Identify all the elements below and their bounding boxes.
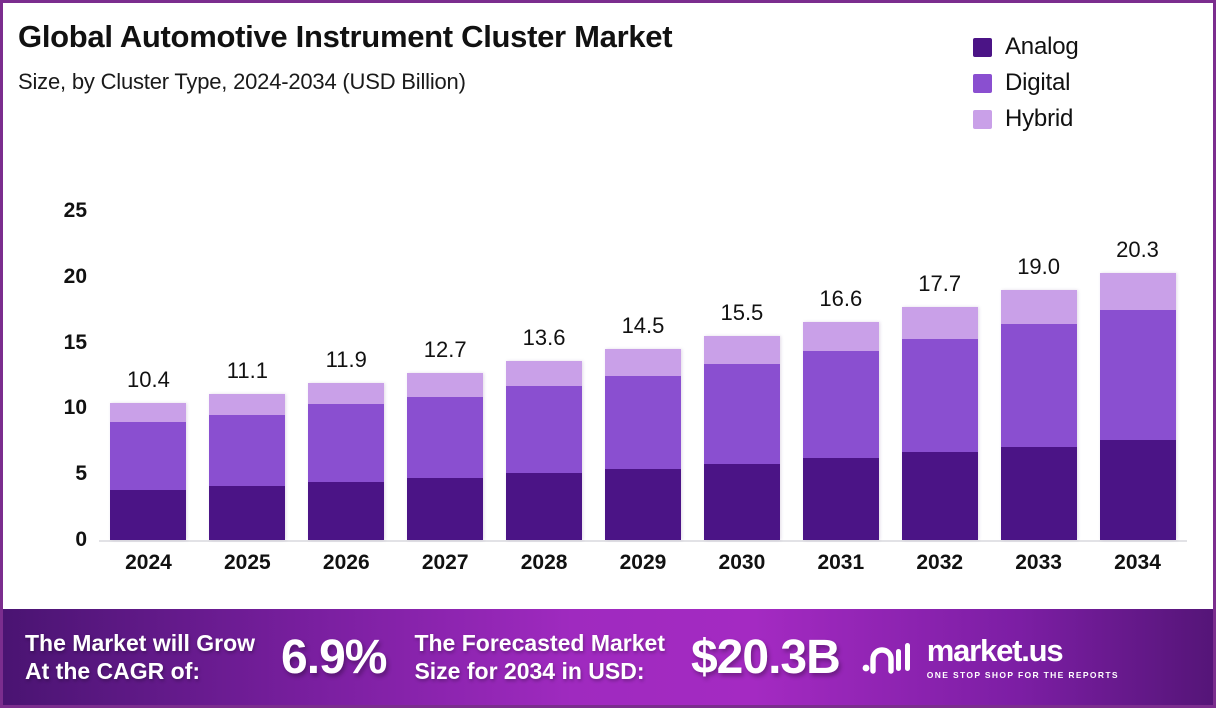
market-us-logo-text: market.us ONE STOP SHOP FOR THE REPORTS <box>927 635 1119 680</box>
bar-segment-hybrid[interactable] <box>1001 290 1077 324</box>
bar-segment-digital[interactable] <box>1100 310 1176 440</box>
forecast-label-line1: The Forecasted Market <box>414 629 665 657</box>
bar-segment-analog[interactable] <box>110 490 186 540</box>
forecast-value: $20.3B <box>691 630 840 685</box>
legend-swatch-icon <box>973 38 992 57</box>
y-tick-label: 25 <box>41 199 87 223</box>
y-tick-label: 5 <box>41 462 87 486</box>
bar-segment-analog[interactable] <box>209 486 285 540</box>
bar-segment-analog[interactable] <box>506 473 582 540</box>
bar-column-2032[interactable]: 17.7 <box>890 143 989 540</box>
forecast-label: The Forecasted Market Size for 2034 in U… <box>414 629 665 685</box>
bar-total-label: 10.4 <box>127 367 170 393</box>
x-axis-label-2027: 2027 <box>396 551 495 591</box>
bar-total-label: 16.6 <box>819 286 862 312</box>
bar-segment-digital[interactable] <box>902 339 978 452</box>
bar-total-label: 11.9 <box>326 347 367 373</box>
bar-segment-hybrid[interactable] <box>506 361 582 386</box>
x-axis-label-2024: 2024 <box>99 551 198 591</box>
bar-total-label: 17.7 <box>918 271 961 297</box>
legend-item-label: Digital <box>1005 69 1070 97</box>
x-axis-label-2026: 2026 <box>297 551 396 591</box>
legend-item-label: Hybrid <box>1005 105 1073 133</box>
bar-column-2031[interactable]: 16.6 <box>791 143 890 540</box>
bar-segment-hybrid[interactable] <box>407 373 483 397</box>
bar-segment-analog[interactable] <box>407 478 483 540</box>
bar-segment-analog[interactable] <box>1001 447 1077 540</box>
legend-swatch-icon <box>973 110 992 129</box>
y-tick-label: 20 <box>41 265 87 289</box>
bar-stack[interactable] <box>209 394 285 540</box>
x-axis-label-2033: 2033 <box>989 551 1088 591</box>
bar-stack[interactable] <box>1100 273 1176 540</box>
cagr-value: 6.9% <box>281 630 386 685</box>
x-axis-label-2029: 2029 <box>594 551 693 591</box>
bar-segment-analog[interactable] <box>605 469 681 540</box>
bar-total-label: 15.5 <box>720 300 763 326</box>
bar-segment-hybrid[interactable] <box>209 394 285 415</box>
bar-segment-analog[interactable] <box>308 482 384 540</box>
bar-series-container: 10.411.111.912.713.614.515.516.617.719.0… <box>99 143 1187 540</box>
bar-segment-digital[interactable] <box>308 404 384 482</box>
x-axis-label-2034: 2034 <box>1088 551 1187 591</box>
bar-segment-digital[interactable] <box>110 422 186 490</box>
bar-stack[interactable] <box>605 349 681 540</box>
bar-segment-hybrid[interactable] <box>110 403 186 421</box>
chart-legend: AnalogDigitalHybrid <box>973 29 1193 137</box>
cagr-label-line1: The Market will Grow <box>25 629 255 657</box>
bar-stack[interactable] <box>1001 290 1077 540</box>
bar-column-2027[interactable]: 12.7 <box>396 143 495 540</box>
bar-segment-hybrid[interactable] <box>803 322 879 351</box>
bar-column-2028[interactable]: 13.6 <box>495 143 594 540</box>
bar-segment-digital[interactable] <box>605 376 681 469</box>
x-axis-label-2025: 2025 <box>198 551 297 591</box>
x-axis-label-2028: 2028 <box>495 551 594 591</box>
bar-segment-hybrid[interactable] <box>308 383 384 404</box>
bar-segment-analog[interactable] <box>803 458 879 540</box>
bar-column-2025[interactable]: 11.1 <box>198 143 297 540</box>
bar-total-label: 19.0 <box>1017 254 1060 280</box>
bar-column-2033[interactable]: 19.0 <box>989 143 1088 540</box>
bar-segment-hybrid[interactable] <box>902 307 978 339</box>
bar-stack[interactable] <box>308 383 384 540</box>
y-tick-label: 15 <box>41 331 87 355</box>
market-us-logo[interactable]: market.us ONE STOP SHOP FOR THE REPORTS <box>862 635 1119 680</box>
y-tick-label: 0 <box>41 528 87 552</box>
bar-stack[interactable] <box>704 336 780 540</box>
logo-wordmark: market.us <box>927 635 1119 666</box>
legend-item-label: Analog <box>1005 33 1079 61</box>
legend-item-hybrid[interactable]: Hybrid <box>973 101 1193 137</box>
bar-total-label: 11.1 <box>227 358 268 384</box>
bar-total-label: 12.7 <box>424 337 467 363</box>
bar-segment-digital[interactable] <box>506 386 582 473</box>
bar-segment-digital[interactable] <box>704 364 780 464</box>
infographic-frame: Global Automotive Instrument Cluster Mar… <box>0 0 1216 708</box>
y-tick-label: 10 <box>41 396 87 420</box>
x-axis-label-2032: 2032 <box>890 551 989 591</box>
bar-total-label: 20.3 <box>1116 237 1159 263</box>
x-axis-label-2031: 2031 <box>791 551 890 591</box>
bar-column-2029[interactable]: 14.5 <box>594 143 693 540</box>
page-title: Global Automotive Instrument Cluster Mar… <box>18 19 672 55</box>
bar-segment-hybrid[interactable] <box>1100 273 1176 310</box>
bar-stack[interactable] <box>803 322 879 540</box>
legend-item-analog[interactable]: Analog <box>973 29 1193 65</box>
summary-banner: The Market will Grow At the CAGR of: 6.9… <box>3 609 1213 705</box>
bar-total-label: 13.6 <box>523 325 566 351</box>
bar-segment-analog[interactable] <box>902 452 978 540</box>
plot-area: 0510152025 10.411.111.912.713.614.515.51… <box>3 143 1216 615</box>
bar-segment-analog[interactable] <box>1100 440 1176 540</box>
cagr-label-line2: At the CAGR of: <box>25 657 255 685</box>
bar-segment-digital[interactable] <box>1001 324 1077 446</box>
bar-total-label: 14.5 <box>622 313 665 339</box>
x-axis-baseline <box>99 540 1187 542</box>
bar-column-2026[interactable]: 11.9 <box>297 143 396 540</box>
x-axis-label-2030: 2030 <box>692 551 791 591</box>
page-subtitle: Size, by Cluster Type, 2024-2034 (USD Bi… <box>18 69 466 95</box>
bar-segment-digital[interactable] <box>407 397 483 479</box>
bar-segment-analog[interactable] <box>704 464 780 540</box>
bar-column-2030[interactable]: 15.5 <box>692 143 791 540</box>
bar-stack[interactable] <box>110 403 186 540</box>
legend-swatch-icon <box>973 74 992 93</box>
legend-item-digital[interactable]: Digital <box>973 65 1193 101</box>
forecast-label-line2: Size for 2034 in USD: <box>414 657 665 685</box>
bar-column-2024[interactable]: 10.4 <box>99 143 198 540</box>
bar-segment-hybrid[interactable] <box>605 349 681 375</box>
bar-segment-hybrid[interactable] <box>704 336 780 364</box>
bar-segment-digital[interactable] <box>209 415 285 486</box>
bar-stack[interactable] <box>407 373 483 540</box>
bar-segment-digital[interactable] <box>803 351 879 459</box>
market-us-logo-mark <box>862 637 916 677</box>
bar-stack[interactable] <box>902 307 978 540</box>
bar-column-2034[interactable]: 20.3 <box>1088 143 1187 540</box>
x-axis-labels: 2024202520262027202820292030203120322033… <box>99 551 1187 591</box>
logo-tagline: ONE STOP SHOP FOR THE REPORTS <box>927 670 1119 680</box>
cagr-label: The Market will Grow At the CAGR of: <box>25 629 255 685</box>
bar-stack[interactable] <box>506 361 582 540</box>
